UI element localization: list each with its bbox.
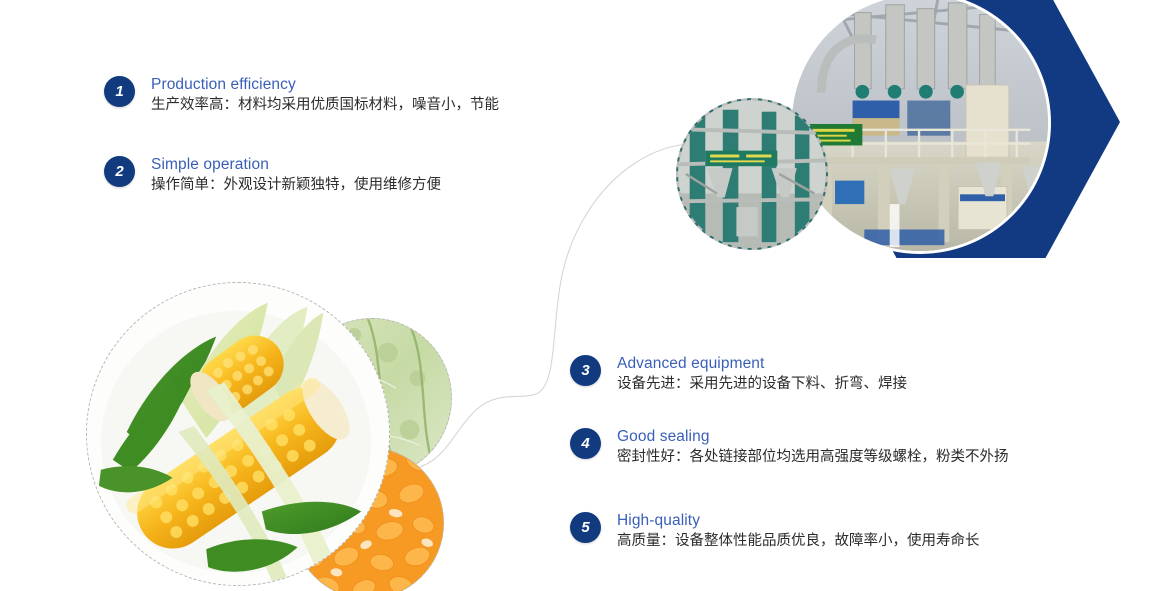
green-milling-machinery-photo: [678, 100, 826, 248]
feature-text-2: Simple operation 操作简单：外观设计新颖独特，使用维修方便: [151, 155, 441, 195]
infographic-canvas: 1 Production efficiency 生产效率高：材料均采用优质国标材…: [0, 0, 1154, 591]
feature-badge-4: 4: [570, 428, 601, 459]
feature-badge-5: 5: [570, 512, 601, 543]
feature-title-4: Good sealing: [617, 427, 1009, 446]
feature-desc-5: 高质量：设备整体性能品质优良，故障率小，使用寿命长: [617, 531, 980, 551]
feature-item-1[interactable]: 1 Production efficiency 生产效率高：材料均采用优质国标材…: [104, 75, 499, 115]
feature-desc-1: 生产效率高：材料均采用优质国标材料，噪音小，节能: [151, 95, 499, 115]
feature-title-2: Simple operation: [151, 155, 441, 174]
hexagon-photo-cluster: [760, 0, 1154, 278]
feature-desc-3: 设备先进：采用先进的设备下料、折弯、焊接: [617, 374, 907, 394]
feature-item-2[interactable]: 2 Simple operation 操作简单：外观设计新颖独特，使用维修方便: [104, 155, 441, 195]
feature-desc-2: 操作简单：外观设计新颖独特，使用维修方便: [151, 175, 441, 195]
feature-title-1: Production efficiency: [151, 75, 499, 94]
feature-title-5: High-quality: [617, 511, 980, 530]
feature-item-5[interactable]: 5 High-quality 高质量：设备整体性能品质优良，故障率小，使用寿命长: [570, 511, 980, 551]
feature-item-3[interactable]: 3 Advanced equipment 设备先进：采用先进的设备下料、折弯、焊…: [570, 354, 907, 394]
feature-text-4: Good sealing 密封性好：各处链接部位均选用高强度等级螺栓，粉类不外扬: [617, 427, 1009, 467]
feature-badge-1: 1: [104, 76, 135, 107]
feature-badge-2: 2: [104, 156, 135, 187]
feature-item-4[interactable]: 4 Good sealing 密封性好：各处链接部位均选用高强度等级螺栓，粉类不…: [570, 427, 1009, 467]
feature-desc-4: 密封性好：各处链接部位均选用高强度等级螺栓，粉类不外扬: [617, 447, 1009, 467]
corn-cob-photo: [86, 282, 390, 586]
feature-title-3: Advanced equipment: [617, 354, 907, 373]
flour-milling-plant-photo: [792, 0, 1048, 251]
corn-photo-cluster: [86, 282, 486, 591]
hexagon-photo: [789, 0, 1051, 254]
feature-badge-3: 3: [570, 355, 601, 386]
feature-text-3: Advanced equipment 设备先进：采用先进的设备下料、折弯、焊接: [617, 354, 907, 394]
feature-text-5: High-quality 高质量：设备整体性能品质优良，故障率小，使用寿命长: [617, 511, 980, 551]
hexagon-photo-small: [676, 98, 828, 250]
feature-text-1: Production efficiency 生产效率高：材料均采用优质国标材料，…: [151, 75, 499, 115]
